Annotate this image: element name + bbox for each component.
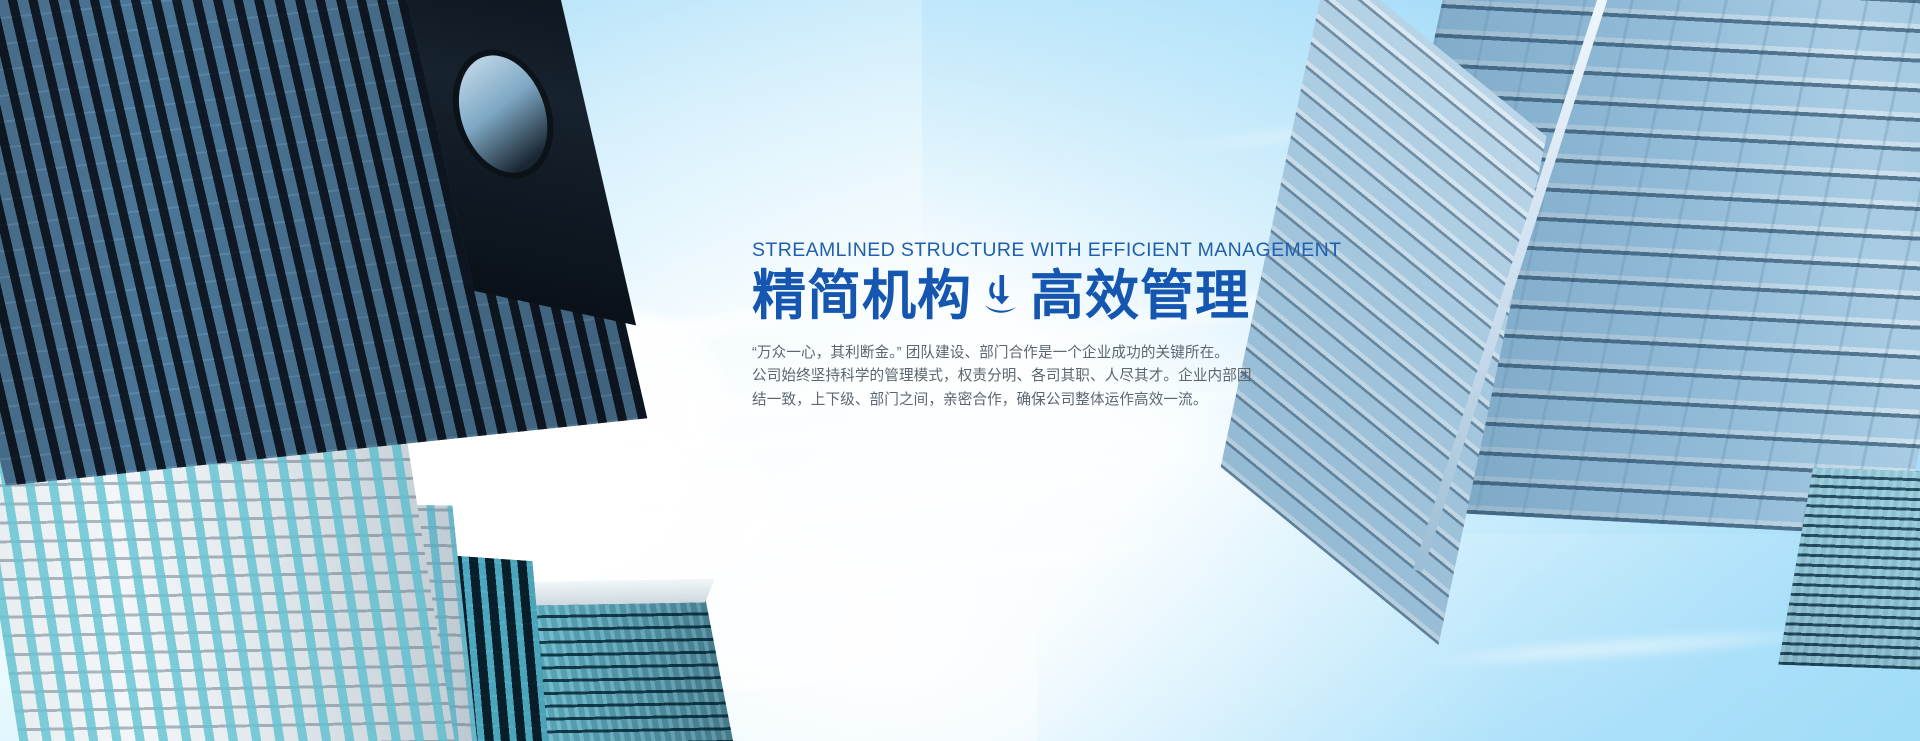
description-line: “万众一心，其利断金。” 团队建设、部门合作是一个企业成功的关键所在。 [752,342,1312,366]
banner-headline: 精简机构 高效管理 [752,265,1312,327]
description-line: 公司始终坚持科学的管理模式，权责分明、各司其职、人尽其才。企业内部团 [752,365,1312,389]
building-main-skyscraper [0,0,647,486]
description-line: 结一致，上下级、部门之间，亲密合作，确保公司整体运作高效一流。 [752,389,1312,413]
stylized-arrow-logo-icon [978,269,1024,323]
atmospheric-haze [0,561,760,741]
headline-left-text: 精简机构 [752,265,972,327]
banner-description: “万众一心，其利断金。” 团队建设、部门合作是一个企业成功的关键所在。 公司始终… [752,342,1312,413]
banner-content: STREAMLINED STRUCTURE WITH EFFICIENT MAN… [752,240,1312,412]
building-right-glass-tower [1335,0,1920,536]
headline-right-text: 高效管理 [1030,265,1250,327]
hero-banner: STREAMLINED STRUCTURE WITH EFFICIENT MAN… [0,0,1920,741]
banner-eyebrow: STREAMLINED STRUCTURE WITH EFFICIENT MAN… [752,240,1312,261]
